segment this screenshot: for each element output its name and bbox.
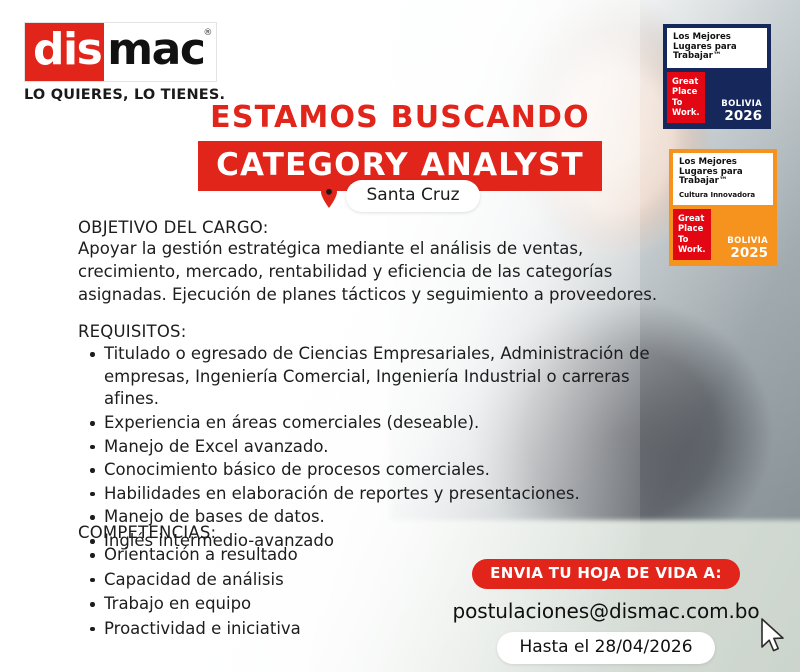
posting-body: OBJETIVO DEL CARGO: Apoyar la gestión es… <box>78 218 678 554</box>
objective-text: Apoyar la gestión estratégica mediante e… <box>78 238 678 306</box>
logo-text-dis: dis <box>25 23 104 81</box>
badge-2025-year: 2025 <box>727 246 768 260</box>
badge-2025-head: Los Mejores Lugares para Trabajar™ Cultu… <box>673 153 773 205</box>
list-item: Experiencia en áreas comerciales (deseab… <box>104 412 678 435</box>
badge-gptw-2025: Los Mejores Lugares para Trabajar™ Cultu… <box>669 149 777 266</box>
list-item: Habilidades en elaboración de reportes y… <box>104 483 678 506</box>
badge-2026-foot: Great Place To Work. BOLIVIA 2026 <box>667 68 767 125</box>
logo-box: dis mac ® <box>24 22 217 82</box>
badge-2026-certifier: Great Place To Work. <box>667 72 705 123</box>
application-deadline: Hasta el 28/04/2026 <box>497 632 714 664</box>
list-item: Titulado o egresado de Ciencias Empresar… <box>104 343 678 411</box>
list-item: Capacidad de análisis <box>104 569 498 592</box>
job-posting-poster: dis mac ® LO QUIERES, LO TIENES. ESTAMOS… <box>0 0 800 672</box>
badge-2026-country-year: BOLIVIA 2026 <box>721 99 764 123</box>
badge-2026-title: Los Mejores Lugares para Trabajar™ <box>673 33 762 62</box>
list-item: Orientación a resultado <box>104 544 498 567</box>
list-item: Proactividad e iniciativa <box>104 618 498 641</box>
badge-2025-subtitle: Cultura Innovadora <box>679 191 768 199</box>
objective-heading: OBJETIVO DEL CARGO: <box>78 218 678 237</box>
badge-2026-head: Los Mejores Lugares para Trabajar™ <box>667 28 767 68</box>
logo-text-mac: mac <box>104 23 216 81</box>
registered-mark-icon: ® <box>203 28 212 38</box>
competencies-heading: COMPETENCIAS: <box>78 523 498 542</box>
badge-2026-year: 2026 <box>721 109 762 123</box>
list-item: Trabajo en equipo <box>104 593 498 616</box>
list-item: Manejo de Excel avanzado. <box>104 436 678 459</box>
cta-label: ENVIA TU HOJA DE VIDA A: <box>472 559 740 589</box>
contact-email[interactable]: postulaciones@dismac.com.bo <box>446 599 766 623</box>
badge-2025-country-year: BOLIVIA 2025 <box>727 236 770 260</box>
competencies-block: COMPETENCIAS: Orientación a resultado Ca… <box>78 523 498 642</box>
requirements-heading: REQUISITOS: <box>78 322 678 341</box>
brand-logo: dis mac ® LO QUIERES, LO TIENES. <box>24 22 225 103</box>
requirements-list: Titulado o egresado de Ciencias Empresar… <box>78 343 678 552</box>
competencies-list: Orientación a resultado Capacidad de aná… <box>78 544 498 640</box>
contact-block: ENVIA TU HOJA DE VIDA A: postulaciones@d… <box>446 559 766 664</box>
location-label: Santa Cruz <box>346 180 479 212</box>
badge-2025-title: Los Mejores Lugares para Trabajar™ <box>679 158 768 187</box>
spacer <box>78 306 678 322</box>
badge-2025-certifier: Great Place To Work. <box>673 209 711 260</box>
badge-gptw-2026: Los Mejores Lugares para Trabajar™ Great… <box>663 24 771 129</box>
list-item: Conocimiento básico de procesos comercia… <box>104 459 678 482</box>
mouse-cursor-icon <box>760 618 786 654</box>
badge-2025-foot: Great Place To Work. BOLIVIA 2025 <box>673 205 773 262</box>
map-pin-icon <box>320 184 338 208</box>
